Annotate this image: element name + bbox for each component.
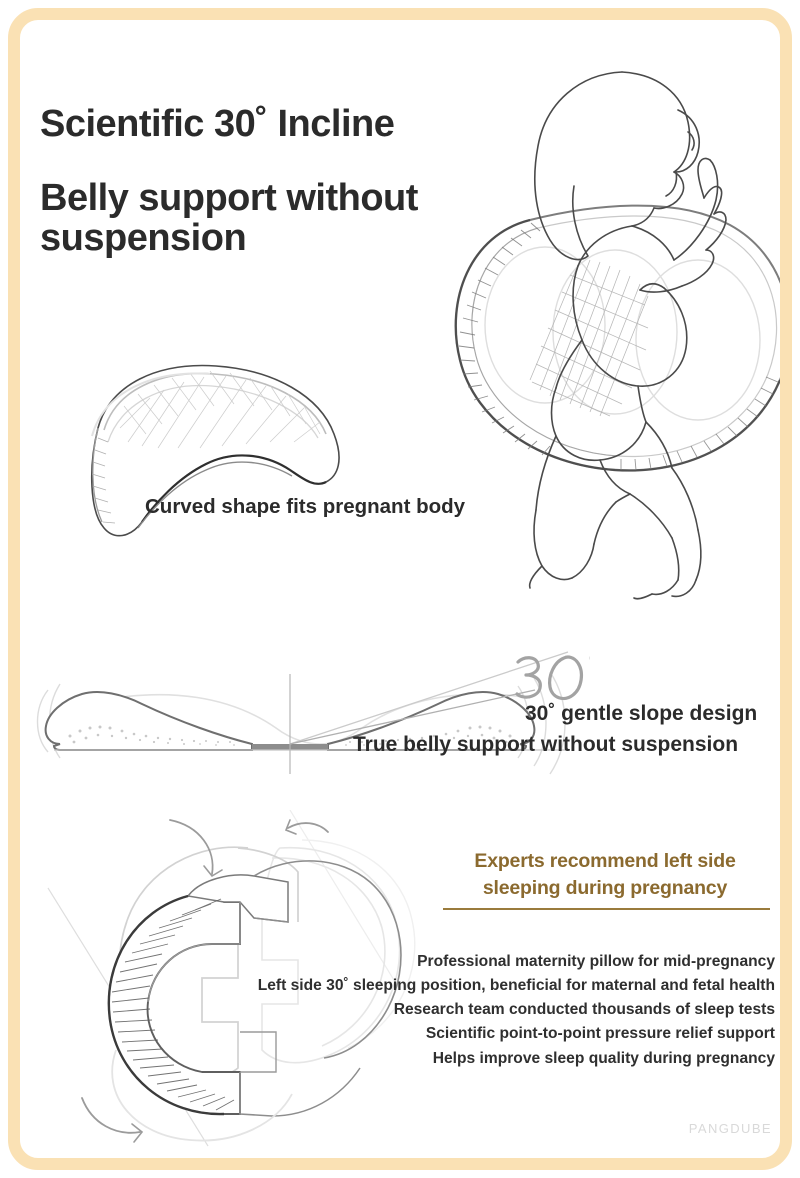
- list-item: Scientific point-to-point pressure relie…: [190, 1022, 775, 1046]
- headline-line-2: Belly support without suspension: [40, 178, 570, 259]
- pregnant-woman-illustration: [410, 60, 780, 600]
- headline-line-1: Scientific 30˚ Incline: [40, 104, 394, 144]
- list-item: Left side 30˚ sleeping position, benefic…: [190, 974, 775, 998]
- caption-true-belly-support: True belly support without suspension: [353, 733, 738, 757]
- expert-heading: Experts recommend left side sleeping dur…: [435, 848, 775, 901]
- list-item: Professional maternity pillow for mid-pr…: [190, 950, 775, 974]
- caption-curved-shape: Curved shape fits pregnant body: [145, 495, 465, 519]
- cross-section-30-degree-diagram: [30, 632, 590, 782]
- watermark: PANGDUBE: [689, 1121, 772, 1136]
- feature-list: Professional maternity pillow for mid-pr…: [190, 950, 775, 1071]
- expert-divider: [443, 908, 770, 910]
- crescent-pillow-illustration: [38, 350, 368, 555]
- list-item: Research team conducted thousands of sle…: [190, 998, 775, 1022]
- content-canvas: Scientific 30˚ Incline Belly support wit…: [20, 20, 780, 1158]
- caption-slope-design: 30˚ gentle slope design: [525, 702, 757, 726]
- list-item: Helps improve sleep quality during pregn…: [190, 1047, 775, 1071]
- product-infographic-page: Scientific 30˚ Incline Belly support wit…: [0, 0, 800, 1178]
- expert-recommendation-block: Experts recommend left side sleeping dur…: [435, 848, 775, 910]
